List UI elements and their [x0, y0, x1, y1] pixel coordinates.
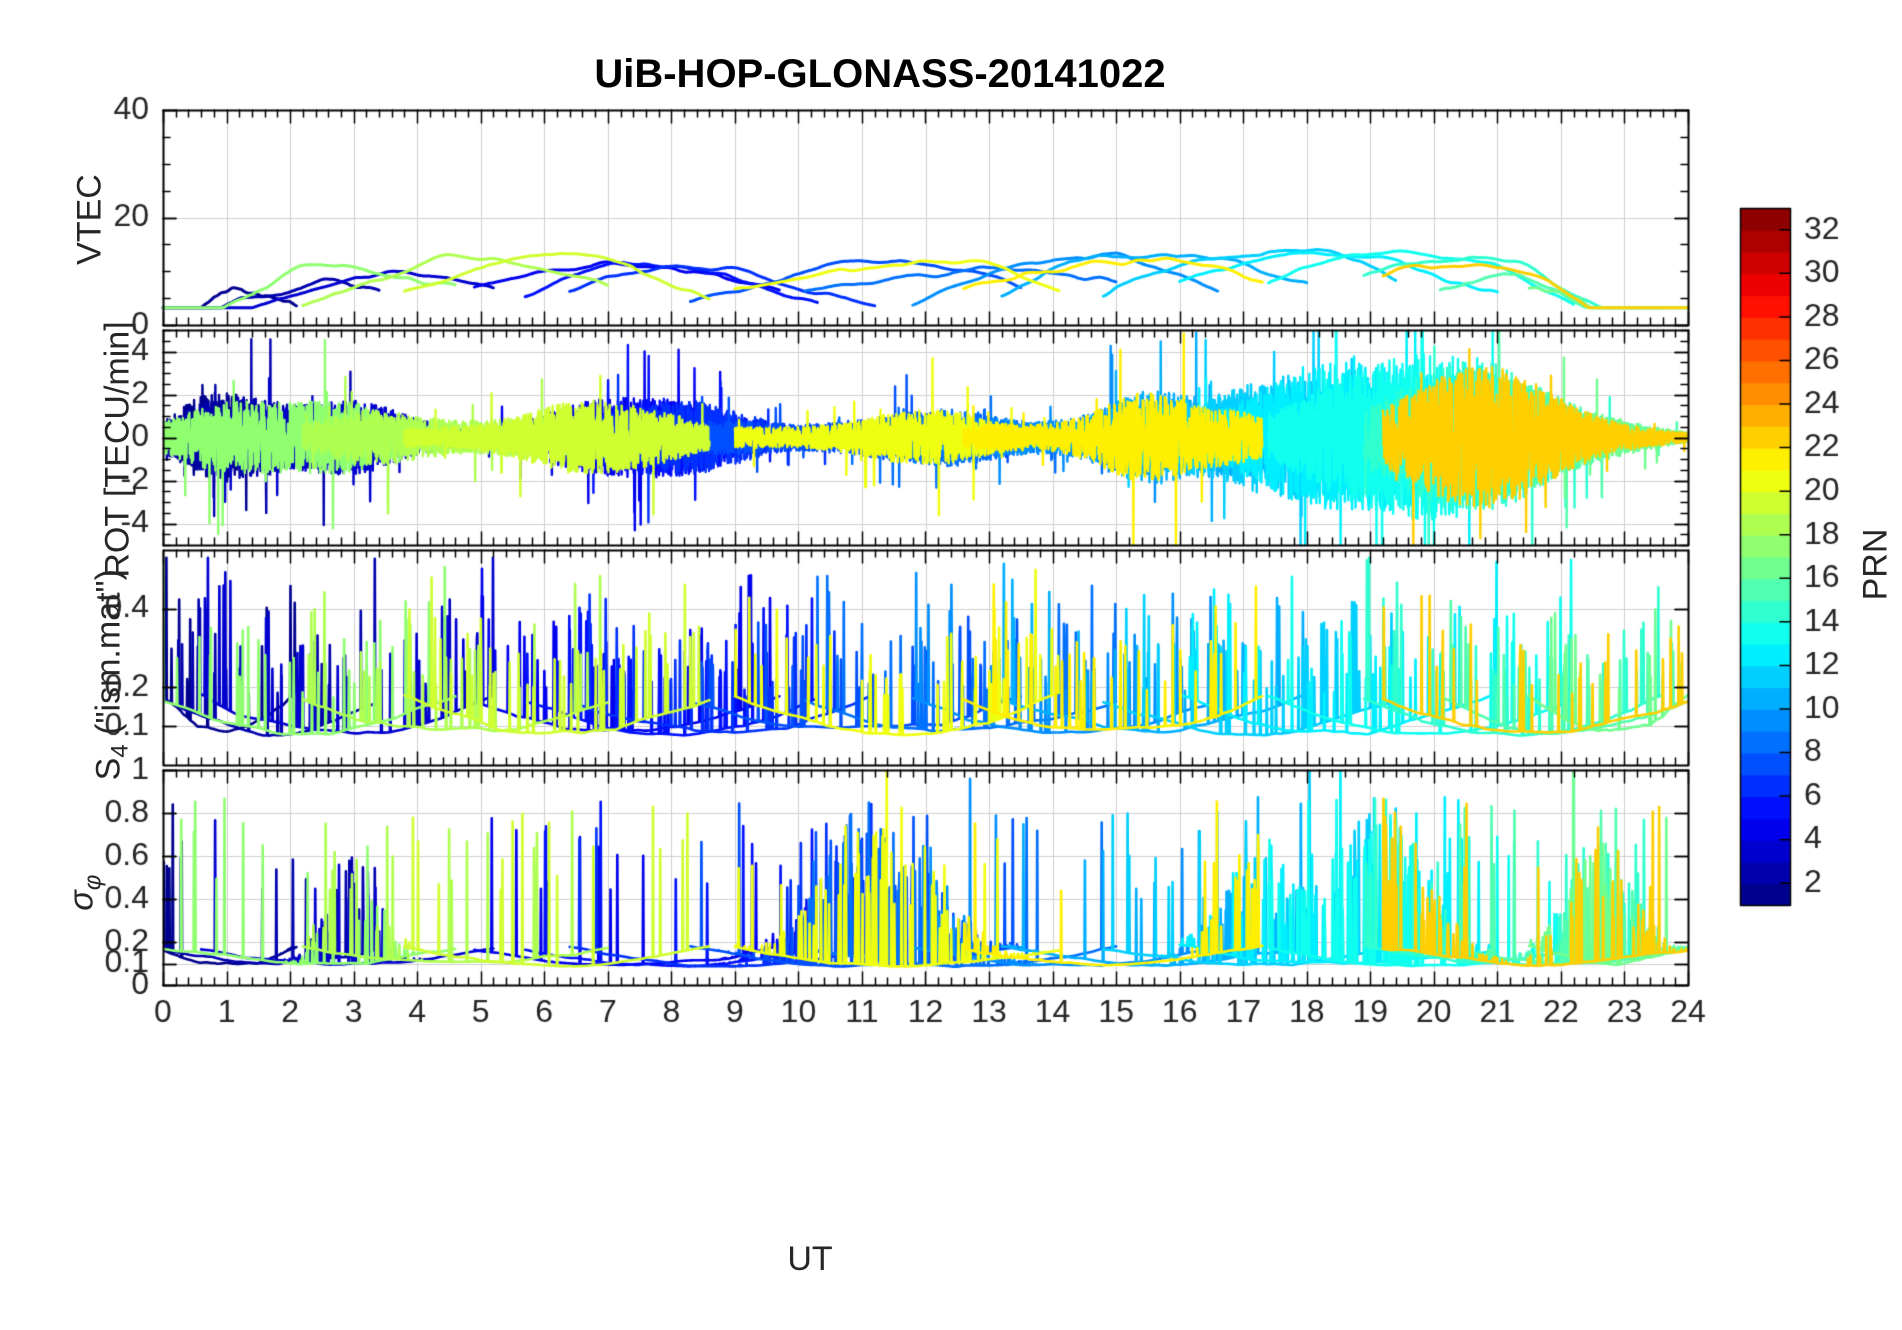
y-axis-label-s4-subscript: 4: [107, 744, 134, 757]
figure-root: UiB-HOP-GLONASS-20141022 UT VTEC ROT [TE…: [0, 0, 1902, 1330]
scintillation-figure-canvas: [0, 0, 1902, 1330]
y-axis-label-s4-suffix: ("ism.mat"): [89, 569, 127, 744]
y-axis-label-sigma-phi: σφ: [62, 833, 107, 953]
y-axis-label-vtec: VTEC: [71, 120, 110, 320]
y-axis-label-sigma-base: σ: [62, 890, 100, 911]
colorbar-label: PRN: [1857, 495, 1896, 635]
figure-title: UiB-HOP-GLONASS-20141022: [0, 52, 1760, 97]
y-axis-label-s4: S4 ("ism.mat"): [89, 515, 134, 835]
y-axis-label-sigma-subscript: φ: [80, 875, 107, 891]
y-axis-label-s4-base: S: [89, 758, 127, 781]
x-axis-label: UT: [660, 1240, 960, 1279]
